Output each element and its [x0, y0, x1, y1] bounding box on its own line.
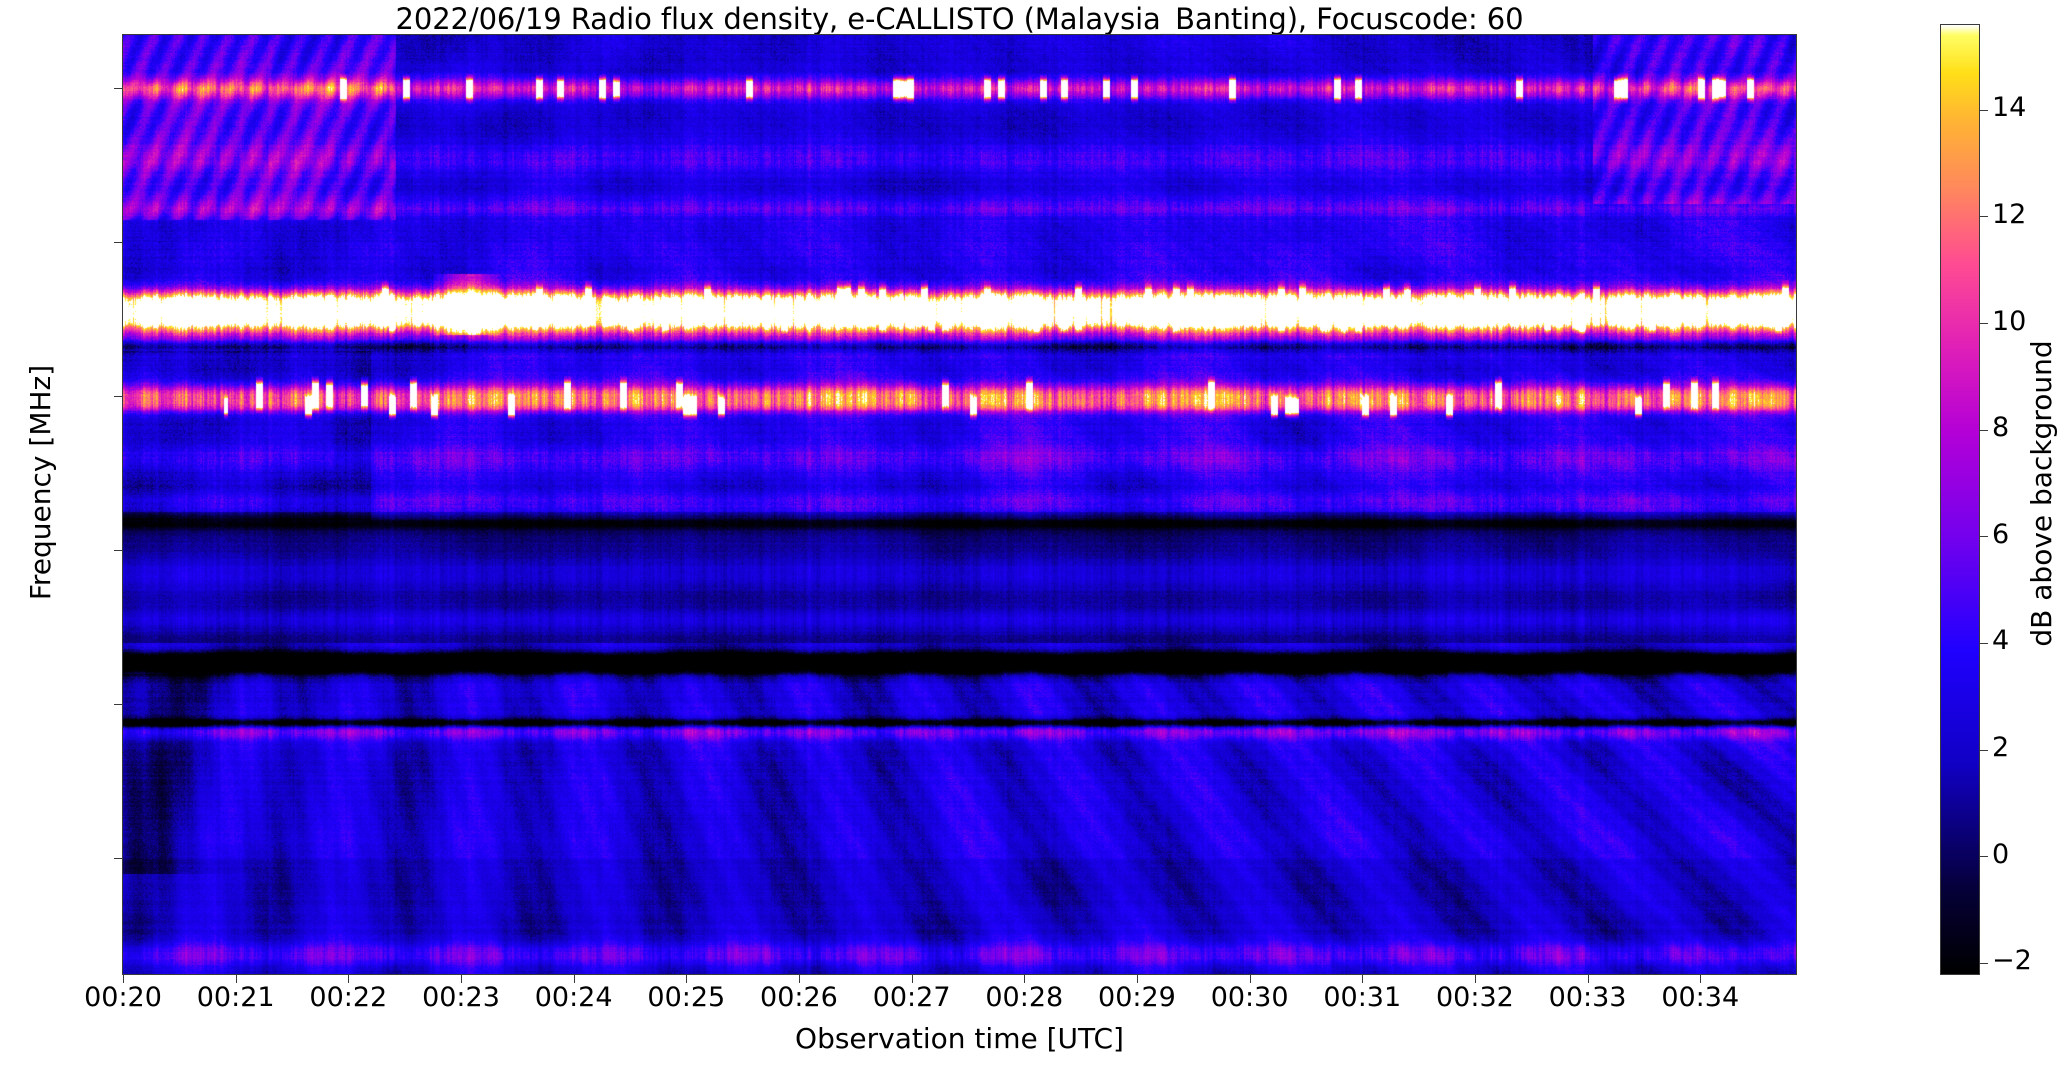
page-title: 2022/06/19 Radio flux density, e-CALLIST… [122, 2, 1797, 36]
colorbar-tick-mark [1980, 216, 1988, 217]
x-axis-label: Observation time [UTC] [122, 1022, 1797, 1055]
figure-canvas: 2022/06/19 Radio flux density, e-CALLIST… [0, 0, 2066, 1067]
y-tick-mark [114, 704, 122, 705]
colorbar-tick-mark [1980, 963, 1988, 964]
colorbar-tick-label: 0 [1992, 839, 2009, 870]
colorbar-tick-mark [1980, 536, 1988, 537]
x-tick-label: 00:27 [873, 982, 951, 1013]
x-tick-label: 00:34 [1661, 982, 1739, 1013]
colorbar-tick-mark [1980, 430, 1988, 431]
x-tick-label: 00:28 [985, 982, 1063, 1013]
x-tick-label: 00:21 [197, 982, 275, 1013]
colorbar-tick-mark [1980, 110, 1988, 111]
y-axis-label: Frequency [MHz] [24, 12, 57, 953]
y-tick-mark [114, 858, 122, 859]
y-tick-mark [114, 550, 122, 551]
colorbar-gradient [1941, 25, 1979, 974]
colorbar-tick-mark [1980, 643, 1988, 644]
x-tick-label: 00:33 [1549, 982, 1627, 1013]
spectrogram-image [123, 35, 1796, 974]
colorbar-tick-label: 10 [1992, 306, 2026, 337]
x-tick-label: 00:22 [309, 982, 387, 1013]
colorbar-tick-mark [1980, 750, 1988, 751]
x-tick-label: 00:32 [1436, 982, 1514, 1013]
x-tick-label: 00:25 [647, 982, 725, 1013]
colorbar-tick-label: 8 [1992, 412, 2009, 443]
spectrogram-axes[interactable] [122, 34, 1797, 975]
colorbar-tick-label: 14 [1992, 92, 2026, 123]
colorbar-tick-label: 6 [1992, 519, 2009, 550]
y-tick-mark [114, 88, 122, 89]
x-tick-label: 00:23 [422, 982, 500, 1013]
colorbar-tick-label: 2 [1992, 732, 2009, 763]
x-tick-label: 00:31 [1323, 982, 1401, 1013]
x-tick-label: 00:24 [535, 982, 613, 1013]
x-tick-label: 00:26 [760, 982, 838, 1013]
colorbar-axes[interactable] [1940, 24, 1980, 975]
x-tick-label: 00:20 [84, 982, 162, 1013]
y-tick-mark [114, 396, 122, 397]
x-tick-label: 00:30 [1211, 982, 1289, 1013]
colorbar-tick-mark [1980, 323, 1988, 324]
y-tick-mark [114, 242, 122, 243]
x-tick-label: 00:29 [1098, 982, 1176, 1013]
colorbar-label: dB above background [2025, 18, 2058, 969]
colorbar-tick-label: −2 [1992, 945, 2032, 976]
colorbar-tick-mark [1980, 856, 1988, 857]
colorbar-tick-label: 12 [1992, 199, 2026, 230]
colorbar-tick-label: 4 [1992, 625, 2009, 656]
